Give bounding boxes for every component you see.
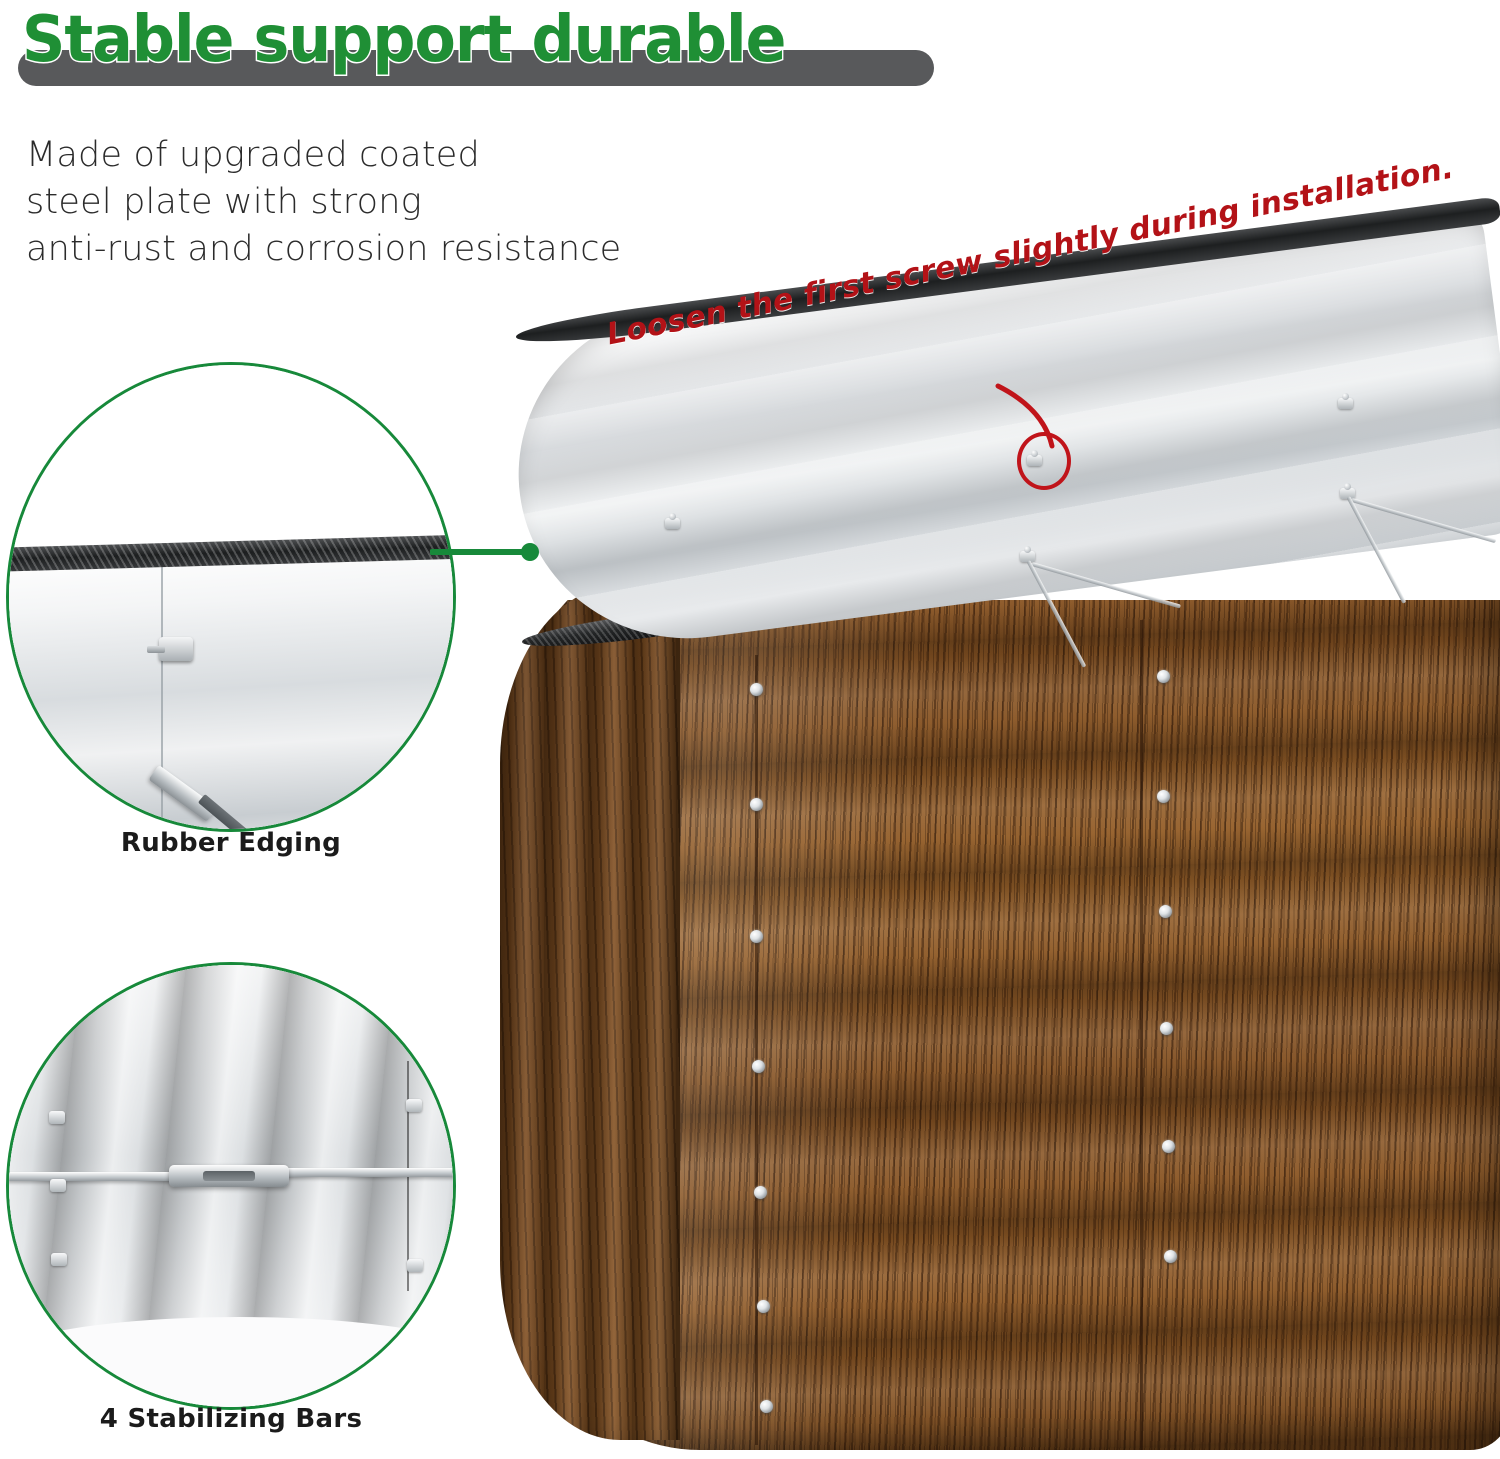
callout-connector-line [430,520,550,580]
wall-screw [407,1259,423,1272]
callout-stabilizing-bars [6,962,456,1410]
panel-screw [760,1400,773,1413]
panel-screw [750,683,763,696]
wall-screw [51,1253,67,1266]
panel-screw [757,1300,770,1313]
interior-screw [1338,398,1353,409]
wall-screw [50,1179,66,1192]
wall-bottom-edge [6,1317,456,1410]
panel-screw [752,1060,765,1073]
stabilizing-bars-photo [9,965,453,1407]
wall-screw [49,1111,65,1124]
panel-seam-right [1140,620,1143,1450]
mounting-screw [159,637,193,661]
corrugated-steel-wall [6,962,456,1365]
page-title-text: Stable support durable [22,4,786,76]
panel-screw [750,930,763,943]
callout-ring-rubber-edging [6,362,456,832]
panel-screw [1162,1140,1175,1153]
stabilizing-bar-rod [6,1172,179,1181]
stabilizing-bar-rod [281,1168,456,1177]
panel-screw [1157,790,1170,803]
panel-screw [1160,1022,1173,1035]
install-note-highlight-circle [1017,432,1071,490]
wall-screw [406,1099,422,1112]
callout-label-stabilizing-bars: 4 Stabilizing Bars [6,1404,456,1434]
interior-screw [665,518,680,529]
panel-screw [750,798,763,811]
bed-left-rounded-end [500,585,680,1440]
rubber-edging-photo [9,365,453,829]
panel-screw [754,1186,767,1199]
panel-screw [1159,905,1172,918]
stabilizing-bar-turnbuckle [169,1165,289,1187]
panel-screw [1157,670,1170,683]
panel-seam-left [755,655,758,1445]
steel-panel-surface [6,544,456,832]
callout-rubber-edging [6,362,456,832]
callout-label-rubber-edging: Rubber Edging [6,828,456,858]
page-title: Stable support durable [22,4,834,84]
callout-ring-stabilizing-bars [6,962,456,1410]
panel-screw [1164,1250,1177,1263]
